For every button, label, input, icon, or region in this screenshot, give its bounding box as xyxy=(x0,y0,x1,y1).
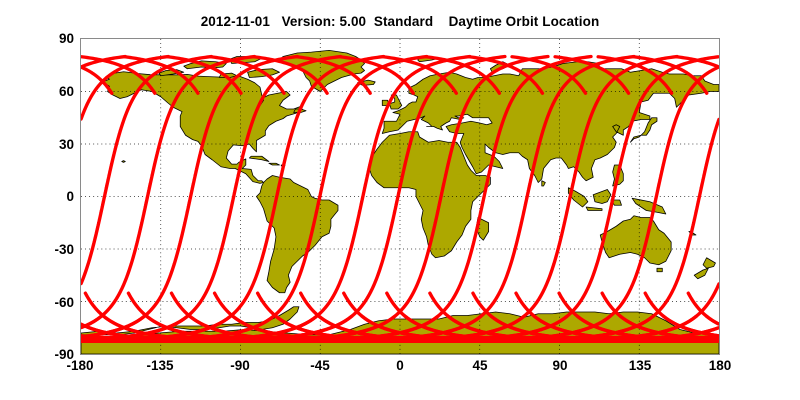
x-tick-label-m135: -135 xyxy=(135,358,185,373)
landmass xyxy=(586,207,602,211)
landmass xyxy=(600,216,671,265)
world-map-svg xyxy=(81,39,719,354)
y-tick-label-m30: -30 xyxy=(34,242,74,257)
y-tick-label-m60: -60 xyxy=(34,295,74,310)
landmass xyxy=(249,156,268,161)
y-tick-label-0: 0 xyxy=(34,189,74,204)
x-tick-label-m180: -180 xyxy=(55,358,105,373)
y-tick-label-90: 90 xyxy=(34,31,74,46)
landmass xyxy=(694,268,708,279)
landmass xyxy=(703,258,715,269)
landmass xyxy=(593,190,611,204)
landmass xyxy=(632,198,666,214)
x-tick-label-m90: -90 xyxy=(215,358,265,373)
map-plot-area xyxy=(80,38,720,355)
x-tick-label-0: 0 xyxy=(375,358,425,373)
landmass xyxy=(542,181,546,186)
y-tick-label-60: 60 xyxy=(34,84,74,99)
landmass xyxy=(269,163,280,165)
x-tick-label-45: 45 xyxy=(455,358,505,373)
x-tick-label-m45: -45 xyxy=(295,358,345,373)
landmass xyxy=(122,161,126,163)
x-tick-label-135: 135 xyxy=(615,358,665,373)
page-title: 2012-11-01 Version: 5.00 Standard Daytim… xyxy=(0,14,800,29)
orbit-location-figure: 2012-11-01 Version: 5.00 Standard Daytim… xyxy=(0,0,800,400)
y-tick-label-30: 30 xyxy=(34,137,74,152)
x-tick-label-90: 90 xyxy=(535,358,585,373)
landmass xyxy=(102,72,302,184)
landmass xyxy=(630,118,657,143)
landmass xyxy=(657,268,662,272)
x-tick-label-180: 180 xyxy=(695,358,745,373)
